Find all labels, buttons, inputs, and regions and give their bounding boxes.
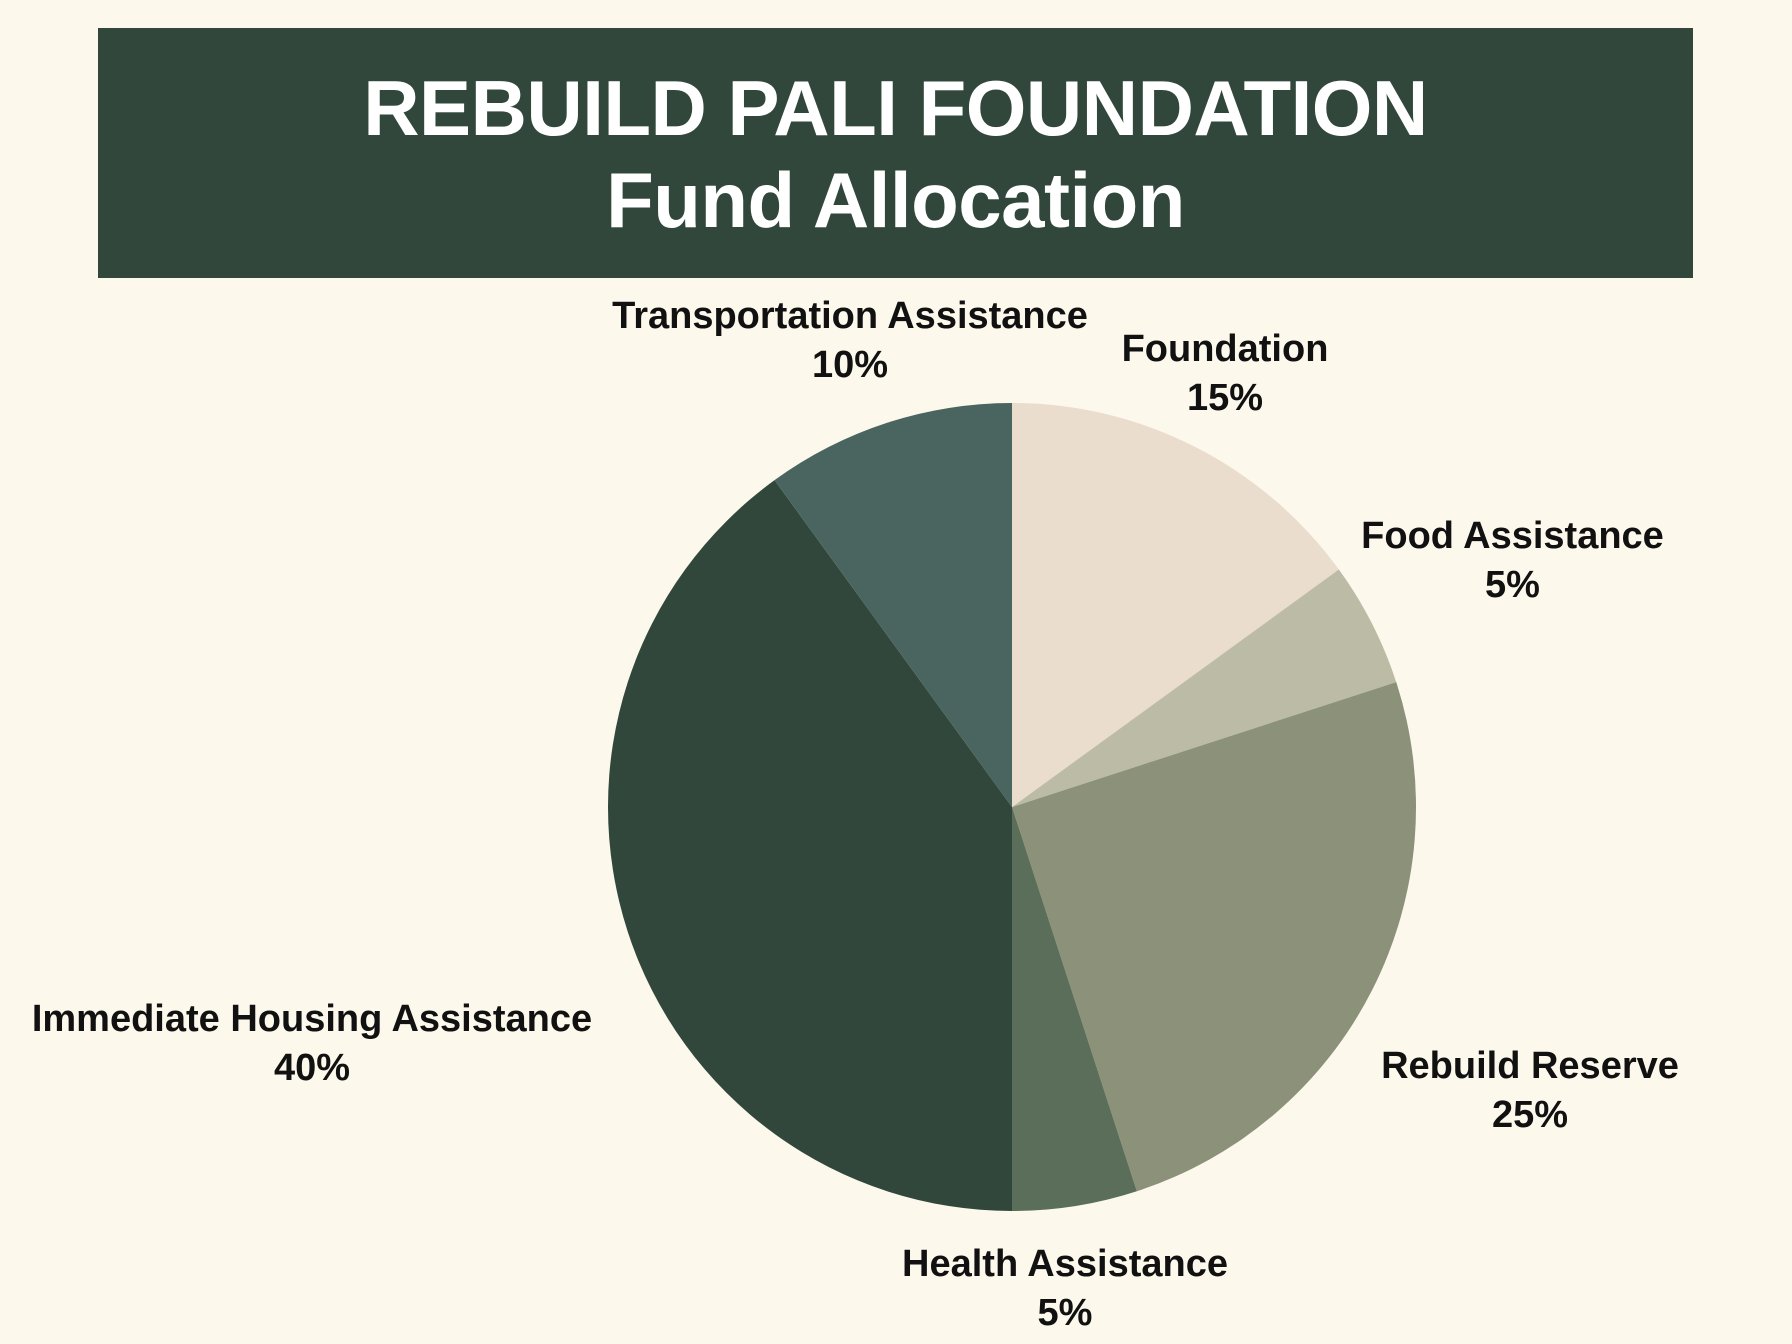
pie-slice-food-assistance [1012,570,1396,807]
pie-label-transportation-assistance: Transportation Assistance 10% [580,292,1120,389]
pie-label-foundation-value: 15% [1105,374,1345,423]
pie-label-food-assistance-name: Food Assistance [1345,512,1680,561]
pie-label-immediate-housing-assistance: Immediate Housing Assistance 40% [2,995,622,1092]
page-subtitle: Fund Allocation [606,160,1185,242]
pie-label-foundation: Foundation 15% [1105,325,1345,422]
page-title: REBUILD PALI FOUNDATION [363,68,1428,150]
pie-slice-immediate-housing-assistance [608,480,1012,1211]
pie-slice-group [608,403,1416,1211]
pie-label-transportation-assistance-value: 10% [580,341,1120,390]
pie-label-rebuild-reserve-name: Rebuild Reserve [1370,1042,1690,1091]
pie-label-health-assistance: Health Assistance 5% [890,1240,1240,1337]
pie-label-rebuild-reserve: Rebuild Reserve 25% [1370,1042,1690,1139]
pie-slice-rebuild-reserve [1012,682,1416,1191]
pie-label-health-assistance-value: 5% [890,1289,1240,1338]
pie-slice-health-assistance [1012,807,1137,1211]
pie-label-transportation-assistance-name: Transportation Assistance [580,292,1120,341]
pie-label-immediate-housing-assistance-value: 40% [2,1044,622,1093]
pie-label-food-assistance: Food Assistance 5% [1345,512,1680,609]
title-banner: REBUILD PALI FOUNDATION Fund Allocation [98,28,1693,278]
pie-label-food-assistance-value: 5% [1345,561,1680,610]
pie-label-immediate-housing-assistance-name: Immediate Housing Assistance [2,995,622,1044]
pie-label-health-assistance-name: Health Assistance [890,1240,1240,1289]
pie-label-foundation-name: Foundation [1105,325,1345,374]
poster-canvas: REBUILD PALI FOUNDATION Fund Allocation … [0,0,1792,1344]
pie-label-rebuild-reserve-value: 25% [1370,1091,1690,1140]
pie-slice-transportation-assistance [775,403,1012,807]
pie-slice-foundation [1012,403,1339,807]
